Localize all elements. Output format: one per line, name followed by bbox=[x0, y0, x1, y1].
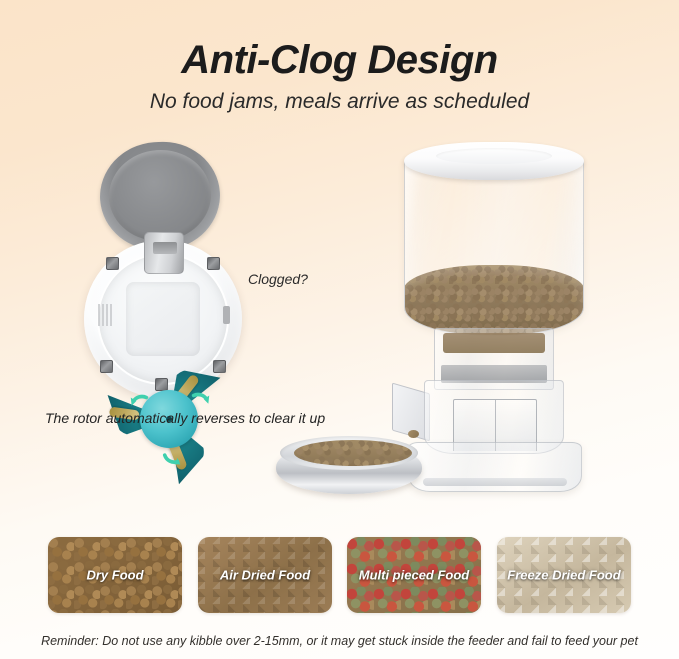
food-card-dry: Dry Food bbox=[48, 537, 182, 613]
food-type-cards: Dry Food Air Dried Food Multi pieced Foo… bbox=[48, 537, 631, 613]
food-card-label: Freeze Dried Food bbox=[497, 568, 631, 583]
food-card-label: Dry Food bbox=[48, 568, 182, 583]
page-subtitle: No food jams, meals arrive as scheduled bbox=[0, 90, 679, 114]
reverse-arrow-icon bbox=[190, 390, 212, 412]
housing-bolt-icon bbox=[100, 360, 113, 373]
housing-vent-icon bbox=[98, 304, 114, 326]
feeder-top-lid bbox=[404, 142, 584, 180]
food-card-multi-pieced: Multi pieced Food bbox=[347, 537, 481, 613]
clogged-label: Clogged? bbox=[248, 271, 308, 287]
page-title: Anti-Clog Design bbox=[0, 38, 679, 83]
lid-hinge bbox=[144, 232, 184, 274]
feeder-hopper bbox=[404, 158, 584, 336]
food-card-air-dried: Air Dried Food bbox=[198, 537, 332, 613]
housing-port-icon bbox=[223, 306, 230, 324]
falling-kibble bbox=[408, 430, 419, 438]
housing-bolt-icon bbox=[106, 257, 119, 270]
rotor-caption: The rotor automatically reverses to clea… bbox=[45, 410, 325, 426]
food-card-freeze-dried: Freeze Dried Food bbox=[497, 537, 631, 613]
food-card-label: Air Dried Food bbox=[198, 568, 332, 583]
product-infographic: Anti-Clog Design No food jams, meals arr… bbox=[0, 0, 679, 659]
reminder-text: Reminder: Do not use any kibble over 2-1… bbox=[0, 634, 679, 648]
feeding-bowl bbox=[276, 436, 422, 496]
housing-bolt-icon bbox=[207, 257, 220, 270]
bowl-kibble bbox=[294, 440, 412, 466]
housing-plate bbox=[126, 282, 200, 356]
bowl-rim bbox=[280, 436, 418, 470]
feeder-base bbox=[408, 442, 582, 492]
hopper-kibble bbox=[404, 265, 584, 336]
reverse-arrow-icon bbox=[162, 446, 184, 468]
rotor-cutaway-diagram bbox=[78, 140, 258, 405]
food-card-label: Multi pieced Food bbox=[347, 568, 481, 583]
